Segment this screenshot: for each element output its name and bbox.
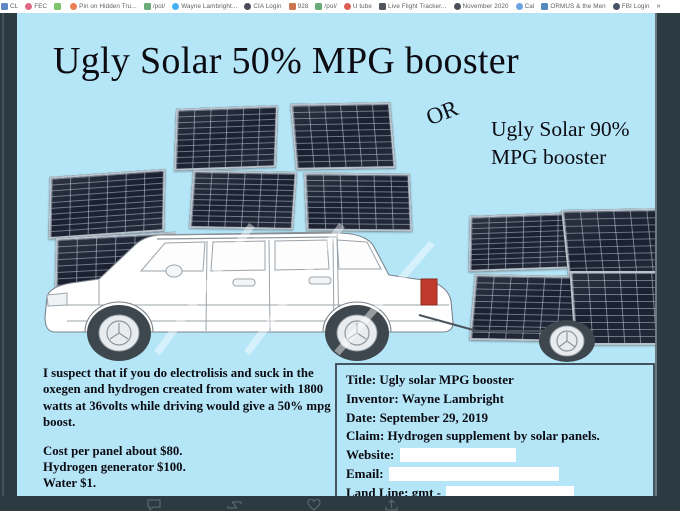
cost-line-generator: Hydrogen generator $100. [43, 459, 343, 475]
redacted-email-value [389, 467, 559, 481]
info-row-website: Website: [346, 446, 653, 465]
bookmark-label: Wayne Lambright... [181, 3, 237, 11]
bookmark-label: Live Flight Tracker... [388, 3, 447, 11]
reply-icon[interactable] [147, 499, 163, 511]
bookmark-item[interactable]: CIA Login [244, 3, 281, 11]
cost-line-water: Water $1. [43, 475, 343, 491]
bookmark-favicon [244, 3, 251, 10]
bookmark-favicon [454, 3, 461, 10]
bookmark-label: Cal [525, 3, 535, 11]
bookmark-item[interactable]: ORMUS & the Men [541, 3, 605, 11]
info-website-label: Website: [346, 447, 394, 462]
bookmarks-bar: CL FEC Pin on Hidden Tru... /pol/ Wayne … [0, 0, 680, 13]
bookmark-label: CIA Login [253, 3, 281, 11]
info-row-inventor: Inventor: Wayne Lambright [346, 390, 653, 409]
tow-bar [417, 313, 547, 341]
info-row-claim: Claim: Hydrogen supplement by solar pane… [346, 427, 653, 446]
bookmark-label: 928 [298, 3, 309, 11]
bookmark-item[interactable]: FEC [25, 3, 47, 11]
panel-sheen [471, 214, 576, 270]
solar-panel [290, 102, 396, 170]
like-icon[interactable] [307, 499, 323, 511]
bookmark-favicon [613, 3, 620, 10]
bookmark-item[interactable]: Live Flight Tracker... [379, 3, 447, 11]
bookmark-favicon [315, 3, 322, 10]
car-svg [37, 213, 467, 363]
browser-window: CL FEC Pin on Hidden Tru... /pol/ Wayne … [0, 0, 680, 511]
bookmark-item[interactable]: U tube [344, 3, 372, 11]
page-title: Ugly Solar 50% MPG booster [53, 39, 519, 83]
bookmark-label: /pol/ [324, 3, 336, 11]
youtube-favicon [344, 3, 351, 10]
taillight [421, 279, 437, 305]
bookmark-item[interactable]: Pin on Hidden Tru... [70, 3, 137, 11]
bookmark-label: FEC [34, 3, 47, 11]
description-paragraph: I suspect that if you do electrolisis an… [43, 365, 343, 431]
bookmark-label: November 2020 [463, 3, 509, 11]
solar-panel [174, 105, 278, 171]
bookmark-favicon [25, 3, 32, 10]
bookmark-favicon [516, 3, 523, 10]
cost-line-panel: Cost per panel about $80. [43, 443, 343, 459]
bookmark-item[interactable]: 928 [289, 3, 309, 11]
info-email-label: Email: [346, 466, 384, 481]
bookmark-favicon [70, 3, 77, 10]
info-row-email: Email: [346, 465, 653, 484]
info-inventor-label: Inventor: [346, 391, 399, 406]
bookmark-label: FBI Login [622, 3, 650, 11]
info-claim-label: Claim: [346, 428, 384, 443]
bookmark-item[interactable]: CL [1, 3, 18, 11]
info-title-label: Title: [346, 372, 376, 387]
bookmark-favicon [1, 3, 8, 10]
bookmark-label: ORMUS & the Men [550, 3, 605, 11]
window-frame-left [0, 13, 17, 498]
poster-image[interactable]: Ugly Solar 50% MPG booster OR Ugly Solar… [17, 13, 655, 496]
info-title-value: Ugly solar MPG booster [379, 372, 513, 387]
bookmark-item[interactable]: /pol/ [315, 3, 336, 11]
bookmark-favicon [379, 3, 386, 10]
info-row-date: Date: September 29, 2019 [346, 409, 653, 428]
info-row-landline: Land Line: gmt - [346, 484, 653, 496]
info-inventor-value: Wayne Lambright [402, 391, 504, 406]
bookmark-item[interactable]: Wayne Lambright... [172, 3, 237, 11]
bookmark-item[interactable]: November 2020 [454, 3, 509, 11]
window-frame-right [655, 13, 680, 498]
front-wheel [87, 305, 151, 361]
info-date-value: September 29, 2019 [380, 410, 488, 425]
redacted-landline-value [446, 486, 574, 496]
bookmark-label: CL [10, 3, 18, 11]
description-text: I suspect that if you do electrolisis an… [43, 365, 343, 492]
info-landline-label: Land Line: gmt - [346, 485, 441, 496]
bookmark-favicon [541, 3, 548, 10]
bookmark-favicon [289, 3, 296, 10]
bookmark-label: U tube [353, 3, 372, 11]
redacted-website-value [400, 448, 516, 462]
panel-sheen [292, 104, 393, 168]
info-row-title: Title: Ugly solar MPG booster [346, 371, 653, 390]
info-date-label: Date: [346, 410, 376, 425]
bookmark-favicon [54, 3, 61, 10]
panel-sheen [176, 107, 276, 169]
tweet-actions-bar [17, 496, 655, 511]
bookmark-item[interactable]: FBI Login [613, 3, 650, 11]
alt-title: Ugly Solar 90% MPG booster [491, 115, 655, 171]
bookmark-favicon [144, 3, 151, 10]
text-spacer [43, 431, 343, 443]
bookmark-item[interactable]: /pol/ [144, 3, 165, 11]
info-box: Title: Ugly solar MPG booster Inventor: … [335, 363, 655, 496]
vehicle-illustration [37, 213, 467, 363]
bookmark-label: /pol/ [153, 3, 165, 11]
solar-panel [469, 212, 578, 272]
or-label: OR [423, 95, 462, 131]
twitter-favicon [172, 3, 179, 10]
info-claim-value: Hydrogen supplement by solar panels. [388, 428, 600, 443]
bookmark-item[interactable]: Cal [516, 3, 535, 11]
share-icon[interactable] [385, 499, 401, 511]
bookmark-label: Pin on Hidden Tru... [79, 3, 137, 11]
bookmark-item[interactable] [54, 3, 63, 10]
retweet-icon[interactable] [227, 499, 243, 511]
bookmarks-overflow-button[interactable]: » [657, 3, 661, 10]
